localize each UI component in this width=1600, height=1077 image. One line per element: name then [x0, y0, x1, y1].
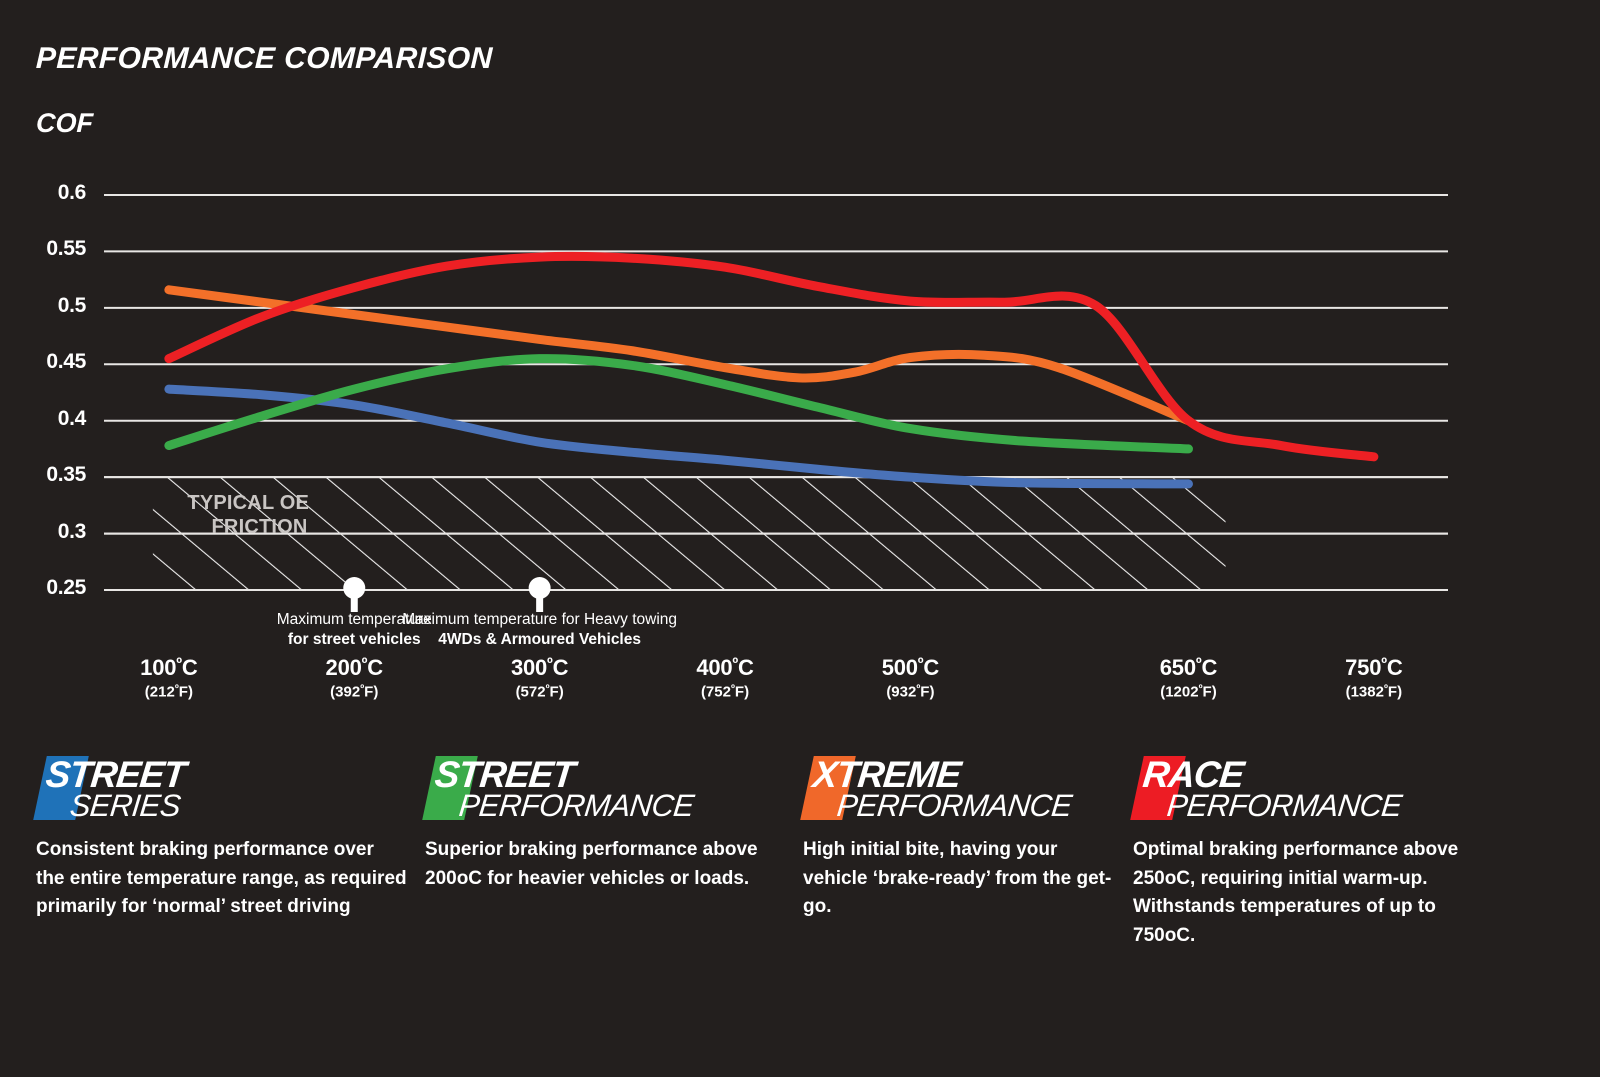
- y-tick-label: 0.45: [8, 350, 86, 374]
- logo-secondary-text: SERIES: [68, 788, 182, 824]
- y-tick-label: 0.4: [8, 407, 86, 431]
- product-logo: XTREMEPERFORMANCE: [803, 748, 1133, 824]
- marker-dot[interactable]: [343, 577, 365, 599]
- legend-item-0[interactable]: STREETSERIESConsistent braking performan…: [36, 748, 425, 922]
- x-tick-celsius: 100ºC: [140, 655, 197, 681]
- x-tick-fahrenheit: (212ºF): [140, 683, 197, 701]
- band-label-line1: TYPICAL OE: [187, 492, 309, 515]
- x-tick-celsius: 500ºC: [882, 655, 939, 681]
- product-description: Consistent braking performance over the …: [36, 836, 425, 922]
- logo-secondary-text: PERFORMANCE: [835, 788, 1073, 824]
- product-logo: STREETSERIES: [36, 748, 425, 824]
- x-tick-celsius: 300ºC: [511, 655, 568, 681]
- legend-item-2[interactable]: XTREMEPERFORMANCEHigh initial bite, havi…: [803, 748, 1133, 922]
- y-tick-label: 0.25: [8, 576, 86, 600]
- y-axis-title: COF: [35, 108, 93, 139]
- degree-symbol: º: [360, 683, 364, 695]
- x-axis-ticks: 100ºC(212ºF)200ºC(392ºF)300ºC(572ºF)400º…: [0, 655, 1600, 715]
- degree-symbol: º: [918, 655, 924, 672]
- x-tick-celsius: 400ºC: [696, 655, 753, 681]
- series-line: [169, 389, 1189, 484]
- product-logo: RACEPERFORMANCE: [1133, 748, 1488, 824]
- degree-symbol: º: [1196, 655, 1202, 672]
- degree-symbol: º: [547, 655, 553, 672]
- product-description: Superior braking performance above 200oC…: [425, 836, 803, 893]
- x-tick-label: 500ºC(932ºF): [882, 655, 939, 701]
- degree-symbol: º: [732, 655, 738, 672]
- x-tick-fahrenheit: (1382ºF): [1345, 683, 1402, 701]
- chart-plot-area: 0.60.550.50.450.40.350.30.25 TYPICAL OE …: [0, 160, 1600, 620]
- x-tick-celsius: 650ºC: [1160, 655, 1217, 681]
- x-tick-fahrenheit: (392ºF): [326, 683, 383, 701]
- x-tick-label: 300ºC(572ºF): [511, 655, 568, 701]
- x-tick-celsius: 750ºC: [1345, 655, 1402, 681]
- x-tick-fahrenheit: (932ºF): [882, 683, 939, 701]
- poster-root: PERFORMANCE COMPARISON COF 0.60.550.50.4…: [0, 0, 1600, 1077]
- x-tick-celsius: 200ºC: [326, 655, 383, 681]
- x-tick-fahrenheit: (572ºF): [511, 683, 568, 701]
- product-logo: STREETPERFORMANCE: [425, 748, 803, 824]
- logo-secondary-text: PERFORMANCE: [457, 788, 695, 824]
- x-tick-fahrenheit: (1202ºF): [1160, 683, 1217, 701]
- marker-note: Maximum temperature for Heavy towing4WDs…: [402, 610, 677, 650]
- x-tick-label: 400ºC(752ºF): [696, 655, 753, 701]
- series-line: [169, 256, 1374, 456]
- degree-symbol: º: [1381, 655, 1387, 672]
- x-tick-label: 100ºC(212ºF): [140, 655, 197, 701]
- y-tick-label: 0.5: [8, 294, 86, 318]
- degree-symbol: º: [175, 683, 179, 695]
- x-tick-fahrenheit: (752ºF): [696, 683, 753, 701]
- x-tick-label: 650ºC(1202ºF): [1160, 655, 1217, 701]
- band-label-line2: FRICTION: [212, 516, 308, 539]
- y-tick-label: 0.35: [8, 463, 86, 487]
- product-description: High initial bite, having your vehicle ‘…: [803, 836, 1133, 922]
- degree-symbol: º: [176, 655, 182, 672]
- degree-symbol: º: [1199, 683, 1203, 695]
- degree-symbol: º: [731, 683, 735, 695]
- degree-symbol: º: [546, 683, 550, 695]
- x-tick-label: 750ºC(1382ºF): [1345, 655, 1402, 701]
- y-tick-label: 0.55: [8, 237, 86, 261]
- marker-note-line2: 4WDs & Armoured Vehicles: [402, 630, 677, 650]
- product-description: Optimal braking performance above 250oC,…: [1133, 836, 1488, 950]
- logo-secondary-text: PERFORMANCE: [1165, 788, 1403, 824]
- degree-symbol: º: [1384, 683, 1388, 695]
- chart-series-group: [169, 256, 1374, 484]
- legend-item-1[interactable]: STREETPERFORMANCESuperior braking perfor…: [425, 748, 803, 893]
- y-tick-label: 0.3: [8, 520, 86, 544]
- marker-note-line1: Maximum temperature for Heavy towing: [402, 610, 677, 630]
- y-tick-label: 0.6: [8, 181, 86, 205]
- marker-dot[interactable]: [529, 577, 551, 599]
- page-title: PERFORMANCE COMPARISON: [35, 42, 493, 76]
- degree-symbol: º: [362, 655, 368, 672]
- degree-symbol: º: [916, 683, 920, 695]
- chart-svg: [0, 160, 1600, 620]
- x-tick-label: 200ºC(392ºF): [326, 655, 383, 701]
- legend-item-3[interactable]: RACEPERFORMANCEOptimal braking performan…: [1133, 748, 1488, 950]
